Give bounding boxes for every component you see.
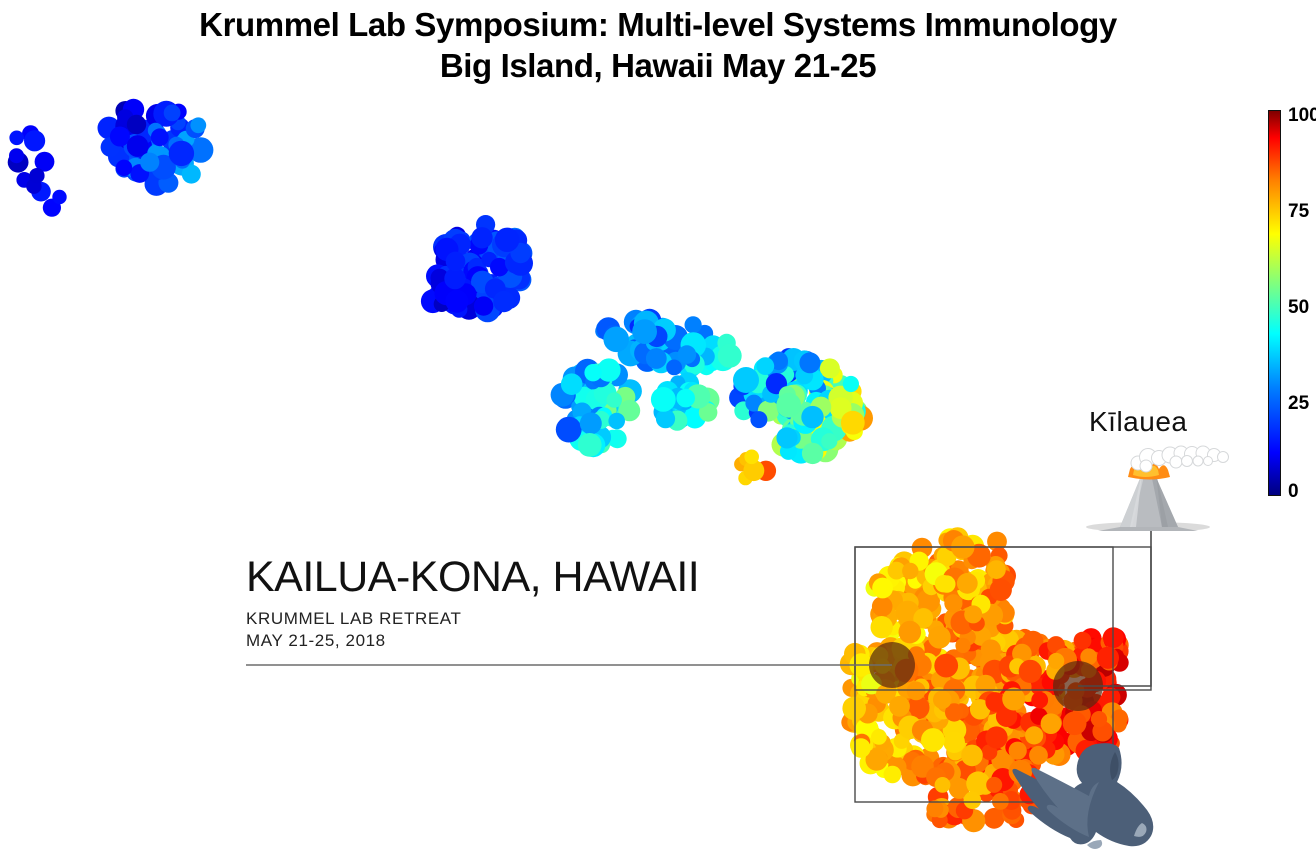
colorbar-tick-75: 75 [1288,202,1309,221]
leader-line-kilauea [1078,524,1151,686]
erupting-volcano-icon [1086,443,1254,531]
colorbar-tick-25: 25 [1288,394,1309,413]
manta-ray-icon [1003,742,1181,856]
retreat-subtitle: KRUMMEL LAB RETREAT [246,608,886,630]
retreat-text-block: KAILUA-KONA, HAWAII KRUMMEL LAB RETREAT … [246,552,886,652]
colorbar: 100 75 50 25 0 [1268,110,1316,502]
colorbar-gradient [1268,110,1281,496]
callout-box-secondary [855,547,1151,690]
retreat-heading: KAILUA-KONA, HAWAII [246,552,886,602]
poster-canvas: Krummel Lab Symposium: Multi-level Syste… [0,0,1316,856]
retreat-dates: MAY 21-25, 2018 [246,630,886,652]
colorbar-tick-100: 100 [1288,106,1316,125]
colorbar-tick-50: 50 [1288,298,1309,317]
kilauea-label: Kīlauea [1089,406,1187,438]
colorbar-tick-0: 0 [1288,482,1299,501]
